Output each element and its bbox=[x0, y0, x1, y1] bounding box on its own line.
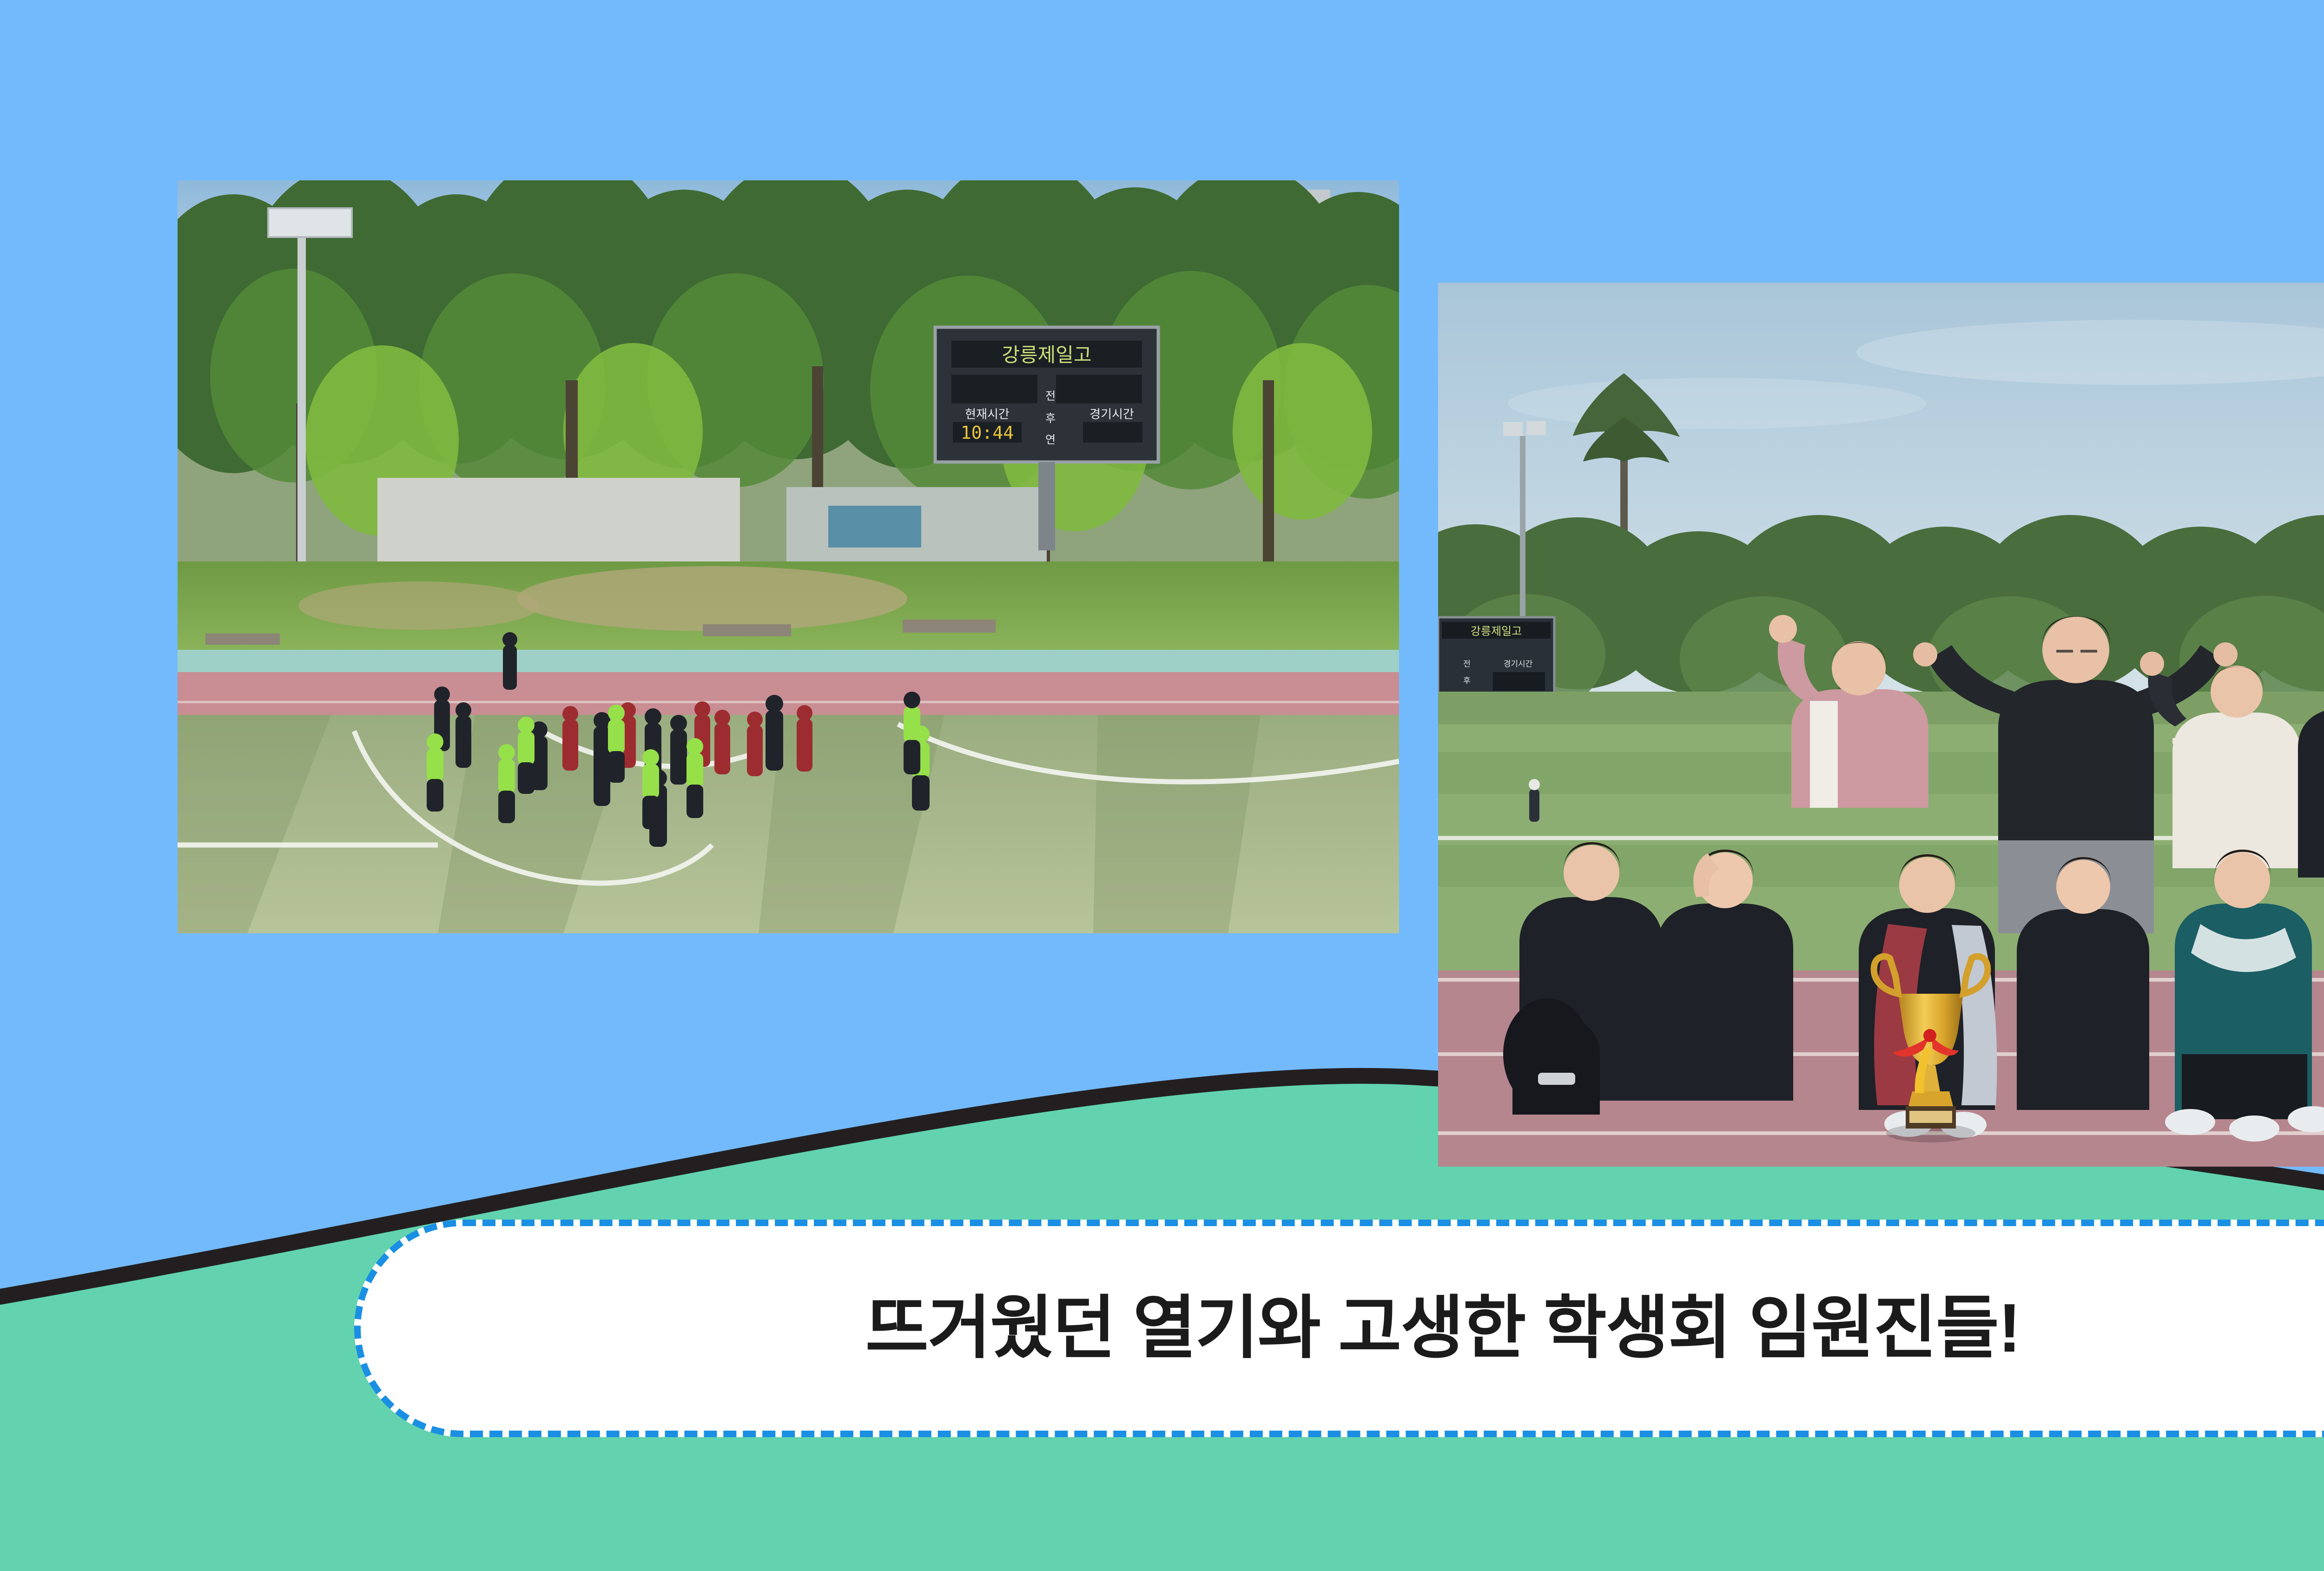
svg-text:10:44: 10:44 bbox=[961, 422, 1014, 443]
photo-soccer-field[interactable]: 강릉제일고 현재시간 10:44 전 후 연 경기시간 bbox=[178, 180, 1399, 933]
svg-text:후: 후 bbox=[1463, 676, 1471, 685]
svg-text:경기시간: 경기시간 bbox=[1504, 660, 1533, 668]
svg-text:전: 전 bbox=[1045, 390, 1056, 403]
photo-student-council-group[interactable]: 강릉제일고 전 후 연 경기시간 bbox=[1438, 283, 2324, 1167]
svg-text:현재시간: 현재시간 bbox=[965, 407, 1010, 421]
photo-soccer-field-art: 강릉제일고 현재시간 10:44 전 후 연 경기시간 bbox=[178, 180, 1399, 933]
slide-canvas: 강릉제일고 현재시간 10:44 전 후 연 경기시간 bbox=[0, 0, 2324, 1569]
photo-student-council-art: 강릉제일고 전 후 연 경기시간 bbox=[1438, 283, 2324, 1167]
svg-text:강릉제일고: 강릉제일고 bbox=[1471, 625, 1522, 638]
svg-text:경기시간: 경기시간 bbox=[1089, 407, 1134, 421]
svg-text:후: 후 bbox=[1045, 412, 1056, 425]
svg-text:연: 연 bbox=[1045, 434, 1056, 446]
caption-card[interactable]: 뜨거웠던 열기와 고생한 학생회 임원진들! bbox=[354, 1220, 2324, 1437]
caption-text: 뜨거웠던 열기와 고생한 학생회 임원진들! bbox=[865, 1294, 2020, 1363]
svg-text:강릉제일고: 강릉제일고 bbox=[1002, 343, 1091, 366]
svg-text:전: 전 bbox=[1463, 660, 1471, 668]
duffel-bag bbox=[1512, 1017, 1600, 1115]
